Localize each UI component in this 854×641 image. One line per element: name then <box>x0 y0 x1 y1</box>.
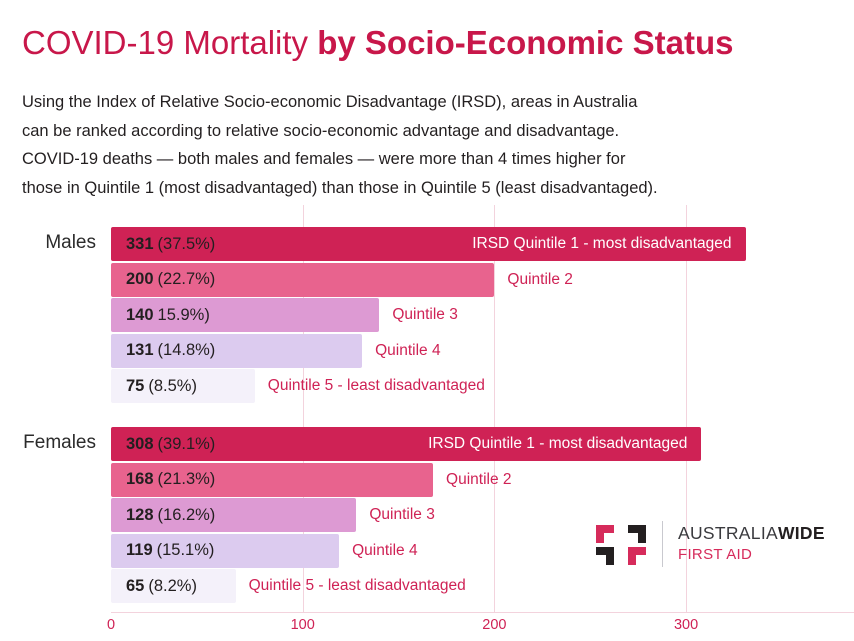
bar-value-label: 308(39.1%) <box>126 427 215 461</box>
page-title: COVID-19 Mortality by Socio-Economic Sta… <box>22 22 733 64</box>
bar-value-percent: 15.9%) <box>158 306 210 325</box>
bar-value-number: 131 <box>126 341 154 360</box>
bar-value-number: 331 <box>126 235 154 254</box>
bar-category-label: IRSD Quintile 1 - most disadvantaged <box>428 427 687 461</box>
bar-value-label: 168(21.3%) <box>126 463 215 497</box>
bar-category-label: Quintile 3 <box>369 498 434 532</box>
bar-category-label: Quintile 4 <box>375 334 440 368</box>
bar-value-label: 75(8.5%) <box>126 369 197 403</box>
x-tick-label-300: 300 <box>674 617 698 633</box>
australia-wide-first-aid-logo: AUSTRALIAWIDE FIRST AID <box>594 515 834 577</box>
bar-row: Quintile 2200(22.7%) <box>111 263 811 297</box>
bar-value-percent: (8.2%) <box>148 577 197 596</box>
bar-row: Quintile 4131(14.8%) <box>111 334 811 368</box>
x-tick-label-100: 100 <box>291 617 315 633</box>
x-tick-label-200: 200 <box>482 617 506 633</box>
intro-line-3: COVID-19 deaths — both males and females… <box>22 145 822 174</box>
logo-divider <box>662 521 663 567</box>
bar-value-percent: (15.1%) <box>157 541 215 560</box>
bar-value-number: 200 <box>126 270 154 289</box>
bar-value-number: 308 <box>126 435 154 454</box>
logo-wordmark: AUSTRALIAWIDE FIRST AID <box>678 523 825 564</box>
bar-value-number: 168 <box>126 470 154 489</box>
bar-value-label: 331(37.5%) <box>126 227 215 261</box>
logo-australia-text: AUSTRALIA <box>678 523 778 543</box>
bar-row: Quintile 2168(21.3%) <box>111 463 811 497</box>
logo-line-2: FIRST AID <box>678 545 825 564</box>
bar-category-label: IRSD Quintile 1 - most disadvantaged <box>472 227 731 261</box>
bar-value-percent: (21.3%) <box>158 470 216 489</box>
infographic-page: COVID-19 Mortality by Socio-Economic Sta… <box>0 0 854 641</box>
group-label-males: Males <box>0 232 96 254</box>
bar-value-percent: (16.2%) <box>158 506 216 525</box>
bar-value-percent: (37.5%) <box>158 235 216 254</box>
intro-line-4: those in Quintile 1 (most disadvantaged)… <box>22 174 822 203</box>
page-title-light: COVID-19 Mortality <box>22 24 317 61</box>
bar-value-label: 65(8.2%) <box>126 569 197 603</box>
bar-category-label: Quintile 2 <box>507 263 572 297</box>
bar-value-number: 140 <box>126 306 154 325</box>
bar-value-percent: (39.1%) <box>158 435 216 454</box>
page-title-bold: by Socio-Economic Status <box>317 24 733 61</box>
bar-value-number: 75 <box>126 377 144 396</box>
bar-category-label: Quintile 5 - least disadvantaged <box>268 369 485 403</box>
first-aid-cross-icon <box>594 519 648 571</box>
bar-row: Quintile 5 - least disadvantaged75(8.5%) <box>111 369 811 403</box>
bar-category-label: Quintile 5 - least disadvantaged <box>249 569 466 603</box>
bar-value-label: 119(15.1%) <box>126 534 214 568</box>
bar-value-label: 200(22.7%) <box>126 263 215 297</box>
bar-category-label: Quintile 2 <box>446 463 511 497</box>
x-tick-label-0: 0 <box>107 617 115 633</box>
bar-category-label: Quintile 3 <box>392 298 457 332</box>
group-label-females: Females <box>0 432 96 454</box>
logo-line-1: AUSTRALIAWIDE <box>678 523 825 544</box>
bar-value-percent: (22.7%) <box>158 270 216 289</box>
bar-row: IRSD Quintile 1 - most disadvantaged308(… <box>111 427 811 461</box>
bar-value-label: 128(16.2%) <box>126 498 215 532</box>
bar-value-percent: (14.8%) <box>158 341 216 360</box>
intro-line-2: can be ranked according to relative soci… <box>22 117 822 146</box>
x-axis-baseline <box>111 612 854 613</box>
bar-row: IRSD Quintile 1 - most disadvantaged331(… <box>111 227 811 261</box>
bar-row: Quintile 314015.9%) <box>111 298 811 332</box>
intro-paragraph: Using the Index of Relative Socio-econom… <box>22 88 822 202</box>
logo-wide-text: WIDE <box>778 523 825 543</box>
bar-value-label: 131(14.8%) <box>126 334 215 368</box>
bar-value-label: 14015.9%) <box>126 298 210 332</box>
bar-value-number: 65 <box>126 577 144 596</box>
bar-category-label: Quintile 4 <box>352 534 417 568</box>
intro-line-1: Using the Index of Relative Socio-econom… <box>22 88 822 117</box>
bar-value-number: 128 <box>126 506 154 525</box>
bar-value-percent: (8.5%) <box>148 377 197 396</box>
bar-value-number: 119 <box>126 541 153 560</box>
